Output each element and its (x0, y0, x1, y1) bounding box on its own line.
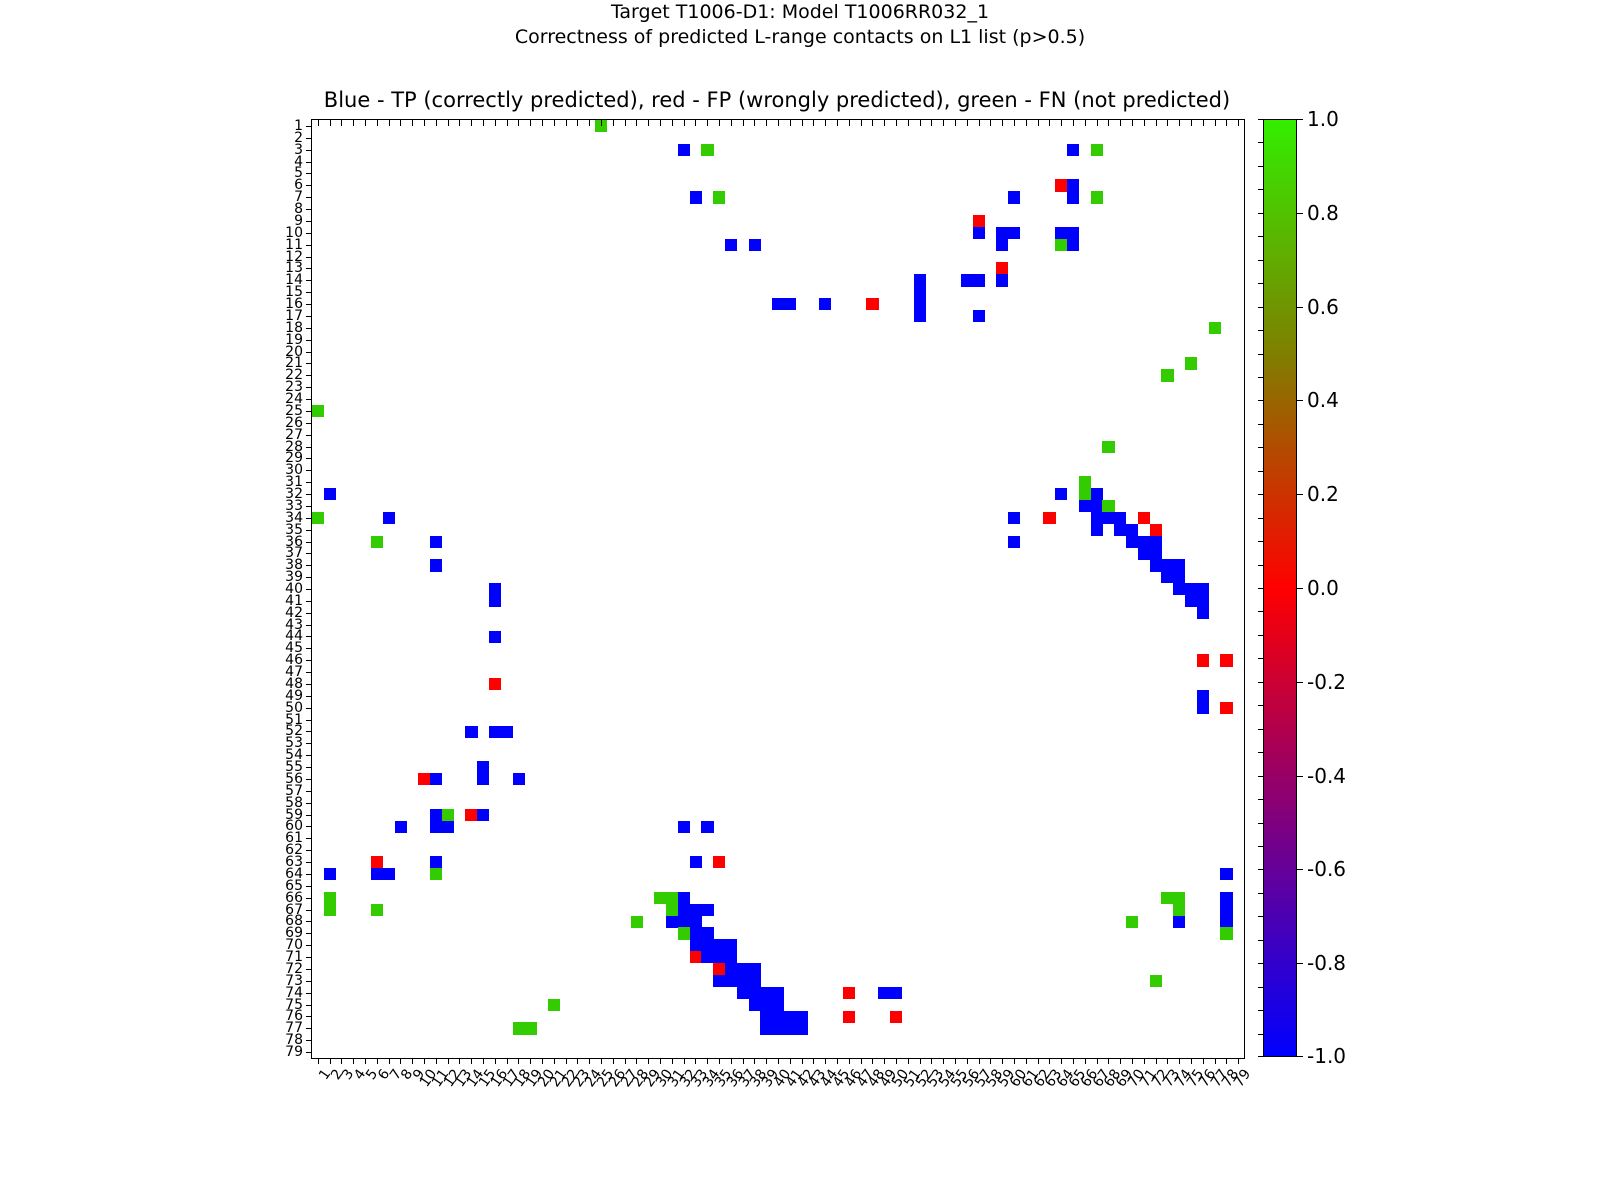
x-tick-mark (955, 1058, 956, 1064)
heatmap-cell (1185, 583, 1197, 595)
colorbar-minor-tick (1258, 377, 1263, 378)
colorbar-minor-tick (1258, 119, 1263, 120)
y-tick-mark (306, 921, 312, 922)
x-tick-mark (920, 1058, 921, 1064)
heatmap-cell (996, 227, 1008, 239)
x-tick-mark-top (648, 120, 649, 126)
x-tick-mark-top (625, 120, 626, 126)
y-tick-mark (306, 1028, 312, 1029)
heatmap-cell (713, 939, 725, 951)
heatmap-cell (312, 405, 324, 417)
heatmap-cell (430, 809, 442, 821)
y-tick-mark (306, 1040, 312, 1041)
x-tick-mark (1238, 1058, 1239, 1064)
x-tick-mark (884, 1058, 885, 1064)
heatmap-cell (1150, 536, 1162, 548)
y-tick-mark (306, 731, 312, 732)
heatmap-cell (1220, 927, 1232, 939)
y-tick-mark (306, 636, 312, 637)
colorbar-tick-mark (1297, 400, 1303, 401)
heatmap-cell (1067, 239, 1079, 251)
x-tick-mark-top (1179, 120, 1180, 126)
colorbar-tick-label: 0.4 (1307, 390, 1339, 410)
heatmap-cell (678, 904, 690, 916)
heatmap-cell (996, 262, 1008, 274)
heatmap-cell (465, 726, 477, 738)
y-tick-mark (306, 886, 312, 887)
x-tick-mark (861, 1058, 862, 1064)
x-tick-mark (1132, 1058, 1133, 1064)
x-tick-mark-top (719, 120, 720, 126)
x-tick-mark (1167, 1058, 1168, 1064)
colorbar-minor-tick (1258, 330, 1263, 331)
y-tick-mark (306, 850, 312, 851)
x-tick-mark-top (613, 120, 614, 126)
y-tick-mark (306, 530, 312, 531)
x-tick-mark-top (601, 120, 602, 126)
heatmap-cell (371, 904, 383, 916)
heatmap-cell (1079, 488, 1091, 500)
colorbar-minor-tick (1258, 846, 1263, 847)
colorbar-tick-mark (1297, 119, 1303, 120)
heatmap-cell (914, 274, 926, 286)
y-tick-mark (306, 387, 312, 388)
heatmap-cell (1114, 524, 1126, 536)
x-tick-mark-top (790, 120, 791, 126)
x-tick-mark-top (448, 120, 449, 126)
x-tick-mark (695, 1058, 696, 1064)
heatmap-cell (1102, 512, 1114, 524)
x-tick-mark (1156, 1058, 1157, 1064)
y-tick-mark (306, 506, 312, 507)
x-tick-mark-top (990, 120, 991, 126)
heatmap-cell (749, 963, 761, 975)
x-tick-mark-top (424, 120, 425, 126)
y-tick-mark (306, 482, 312, 483)
x-tick-mark (1014, 1058, 1015, 1064)
colorbar-minor-tick (1258, 1056, 1263, 1057)
heatmap-cell (1173, 904, 1185, 916)
heatmap-cell (1055, 179, 1067, 191)
colorbar-tick-mark (1297, 494, 1303, 495)
y-tick-mark (306, 268, 312, 269)
heatmap-cell (1161, 571, 1173, 583)
colorbar-minor-tick (1258, 658, 1263, 659)
x-tick-mark (825, 1058, 826, 1064)
heatmap-cell (418, 773, 430, 785)
x-tick-mark-top (872, 120, 873, 126)
heatmap-cell (383, 868, 395, 880)
heatmap-cell (1138, 547, 1150, 559)
x-tick-mark-top (377, 120, 378, 126)
y-tick-mark (306, 494, 312, 495)
x-tick-mark-top (495, 120, 496, 126)
heatmap-cell (1150, 547, 1162, 559)
heatmap-cell (1102, 500, 1114, 512)
y-tick-mark (306, 257, 312, 258)
x-tick-mark (436, 1058, 437, 1064)
x-tick-mark (518, 1058, 519, 1064)
x-tick-mark-top (955, 120, 956, 126)
x-tick-mark (625, 1058, 626, 1064)
y-tick-mark (306, 815, 312, 816)
y-tick-mark (306, 720, 312, 721)
colorbar-minor-tick (1258, 307, 1263, 308)
x-tick-mark-top (389, 120, 390, 126)
x-tick-mark (377, 1058, 378, 1064)
colorbar-minor-tick (1258, 213, 1263, 214)
x-tick-mark-top (778, 120, 779, 126)
heatmap-cell (796, 1022, 808, 1034)
heatmap-cell (690, 927, 702, 939)
y-tick-mark (306, 162, 312, 163)
y-tick-mark (306, 565, 312, 566)
y-tick-mark (306, 328, 312, 329)
heatmap-cell (1055, 239, 1067, 251)
x-tick-mark (459, 1058, 460, 1064)
heatmap-cell (501, 726, 513, 738)
colorbar-tick-label: -0.8 (1307, 953, 1346, 973)
heatmap-cell (312, 512, 324, 524)
x-tick-mark-top (412, 120, 413, 126)
x-tick-mark-top (802, 120, 803, 126)
heatmap-cell (690, 951, 702, 963)
heatmap-cell (465, 809, 477, 821)
heatmap-cell (371, 856, 383, 868)
x-tick-mark (766, 1058, 767, 1064)
heatmap-cell (690, 856, 702, 868)
x-tick-mark-top (1002, 120, 1003, 126)
colorbar-tick-label: -0.6 (1307, 859, 1346, 879)
colorbar-tick-label: 0.0 (1307, 578, 1339, 598)
x-tick-mark-top (920, 120, 921, 126)
heatmap-cell (489, 678, 501, 690)
x-tick-mark (1073, 1058, 1074, 1064)
colorbar-minor-tick (1258, 987, 1263, 988)
colorbar-tick-mark (1297, 1056, 1303, 1057)
x-tick-mark-top (825, 120, 826, 126)
suptitle-line-2: Correctness of predicted L-range contact… (0, 25, 1600, 50)
colorbar-minor-tick (1258, 494, 1263, 495)
heatmap-cell (1220, 892, 1232, 904)
colorbar-tick-mark (1297, 682, 1303, 683)
y-tick-label: 79 (285, 1046, 303, 1058)
heatmap-cells-layer[interactable] (312, 120, 1244, 1058)
x-tick-mark (990, 1058, 991, 1064)
y-tick-mark (306, 708, 312, 709)
heatmap-cell (1197, 607, 1209, 619)
y-tick-mark (306, 340, 312, 341)
colorbar-minor-tick (1258, 729, 1263, 730)
x-tick-mark-top (459, 120, 460, 126)
heatmap-cell (784, 1011, 796, 1023)
heatmap-cell (760, 1011, 772, 1023)
heatmap-cell (878, 987, 890, 999)
heatmap-cell (1067, 179, 1079, 191)
x-tick-mark-top (1038, 120, 1039, 126)
colorbar-minor-tick (1258, 893, 1263, 894)
colorbar-minor-tick (1258, 166, 1263, 167)
colorbar-minor-tick (1258, 518, 1263, 519)
y-tick-mark (306, 696, 312, 697)
y-tick-mark (306, 197, 312, 198)
x-tick-mark-top (400, 120, 401, 126)
heatmap-cell (749, 975, 761, 987)
x-tick-mark (613, 1058, 614, 1064)
y-tick-mark (306, 447, 312, 448)
heatmap-cell (1197, 583, 1209, 595)
heatmap-cell (1091, 191, 1103, 203)
heatmap-cell (1008, 227, 1020, 239)
x-tick-mark (1120, 1058, 1121, 1064)
heatmap-cell (489, 631, 501, 643)
heatmap-cell (1055, 227, 1067, 239)
heatmap-cell (489, 583, 501, 595)
colorbar-minor-tick (1258, 940, 1263, 941)
heatmap-cell (666, 892, 678, 904)
axes-title-legend: Blue - TP (correctly predicted), red - F… (311, 88, 1243, 112)
colorbar-minor-tick (1258, 565, 1263, 566)
x-tick-mark-top (660, 120, 661, 126)
heatmap-cell (1091, 500, 1103, 512)
heatmap-cell (1091, 488, 1103, 500)
x-tick-mark (389, 1058, 390, 1064)
heatmap-cell (690, 939, 702, 951)
x-tick-mark (400, 1058, 401, 1064)
colorbar-minor-tick (1258, 142, 1263, 143)
heatmap-cell (1173, 916, 1185, 928)
x-tick-mark (660, 1058, 661, 1064)
y-tick-mark (306, 352, 312, 353)
x-tick-mark (896, 1058, 897, 1064)
heatmap-cell (713, 963, 725, 975)
x-tick-mark-top (813, 120, 814, 126)
heatmap-cell (1161, 369, 1173, 381)
x-tick-mark (967, 1058, 968, 1064)
heatmap-cell (678, 144, 690, 156)
heatmap-cell (701, 904, 713, 916)
x-tick-mark-top (330, 120, 331, 126)
colorbar-minor-tick (1258, 189, 1263, 190)
figure-suptitle: Target T1006-D1: Model T1006RR032_1 Corr… (0, 0, 1600, 50)
x-tick-mark (495, 1058, 496, 1064)
x-tick-mark (424, 1058, 425, 1064)
x-tick-mark-top (931, 120, 932, 126)
y-tick-mark (306, 1016, 312, 1017)
x-tick-mark (1097, 1058, 1098, 1064)
heatmap-cell (713, 856, 725, 868)
y-tick-mark (306, 292, 312, 293)
y-tick-mark (306, 316, 312, 317)
heatmap-cell (1197, 690, 1209, 702)
heatmap-cell (772, 987, 784, 999)
x-tick-mark (1061, 1058, 1062, 1064)
x-tick-mark (1215, 1058, 1216, 1064)
heatmap-cell (973, 274, 985, 286)
x-tick-mark-top (518, 120, 519, 126)
heatmap-cell (701, 144, 713, 156)
y-tick-mark (306, 1005, 312, 1006)
colorbar-minor-tick (1258, 471, 1263, 472)
heatmap-cell (996, 239, 1008, 251)
y-tick-mark (306, 613, 312, 614)
x-tick-mark (318, 1058, 319, 1064)
x-tick-mark-top (884, 120, 885, 126)
heatmap-cell (784, 1022, 796, 1034)
y-tick-mark (306, 173, 312, 174)
heatmap-cell (725, 975, 737, 987)
x-tick-mark (707, 1058, 708, 1064)
colorbar-tick-label: 0.6 (1307, 297, 1339, 317)
colorbar-minor-tick (1258, 752, 1263, 753)
x-tick-mark (837, 1058, 838, 1064)
heatmap-cell (1102, 441, 1114, 453)
x-tick-mark (577, 1058, 578, 1064)
x-tick-mark-top (1026, 120, 1027, 126)
heatmap-cell (371, 868, 383, 880)
x-tick-mark-top (896, 120, 897, 126)
colorbar-tick-mark (1297, 307, 1303, 308)
heatmap-axes[interactable]: 1234567891011121314151617181920212223242… (311, 119, 1245, 1059)
x-tick-mark (908, 1058, 909, 1064)
heatmap-cell (914, 310, 926, 322)
heatmap-cell (1138, 536, 1150, 548)
heatmap-cell (1079, 500, 1091, 512)
heatmap-cell (701, 939, 713, 951)
x-tick-mark-top (707, 120, 708, 126)
y-tick-mark (306, 601, 312, 602)
x-tick-mark (542, 1058, 543, 1064)
x-tick-mark-top (1226, 120, 1227, 126)
heatmap-cell (1220, 868, 1232, 880)
heatmap-cell (1173, 571, 1185, 583)
x-tick-mark-top (1120, 120, 1121, 126)
y-tick-mark (306, 660, 312, 661)
y-tick-mark (306, 755, 312, 756)
heatmap-cell (1126, 524, 1138, 536)
y-tick-mark (306, 933, 312, 934)
x-tick-mark-top (554, 120, 555, 126)
heatmap-cell (772, 1022, 784, 1034)
colorbar-minor-tick (1258, 283, 1263, 284)
x-tick-mark-top (341, 120, 342, 126)
heatmap-cell (772, 298, 784, 310)
colorbar-minor-tick (1258, 236, 1263, 237)
x-tick-mark-top (754, 120, 755, 126)
x-tick-mark-top (1097, 120, 1098, 126)
y-tick-mark (306, 458, 312, 459)
heatmap-cell (1091, 144, 1103, 156)
y-tick-mark (306, 589, 312, 590)
heatmap-cell (772, 1011, 784, 1023)
y-tick-mark (306, 1052, 312, 1053)
y-tick-mark (306, 470, 312, 471)
y-tick-mark (306, 672, 312, 673)
heatmap-cell (678, 916, 690, 928)
x-tick-mark (754, 1058, 755, 1064)
heatmap-cell (1173, 583, 1185, 595)
y-tick-mark (306, 767, 312, 768)
heatmap-cell (890, 1011, 902, 1023)
colorbar-minor-tick (1258, 1010, 1263, 1011)
heatmap-cell (843, 987, 855, 999)
colorbar-minor-tick (1258, 682, 1263, 683)
heatmap-cell (701, 821, 713, 833)
x-tick-mark (872, 1058, 873, 1064)
x-tick-mark (566, 1058, 567, 1064)
heatmap-cell (1150, 559, 1162, 571)
y-tick-mark (306, 969, 312, 970)
colorbar-minor-tick (1258, 447, 1263, 448)
contact-map-figure: Target T1006-D1: Model T1006RR032_1 Corr… (0, 0, 1600, 1200)
heatmap-cell (772, 999, 784, 1011)
heatmap-cell (1138, 512, 1150, 524)
x-tick-mark-top (908, 120, 909, 126)
x-tick-mark (483, 1058, 484, 1064)
x-tick-mark (778, 1058, 779, 1064)
x-tick-mark (979, 1058, 980, 1064)
heatmap-cell (1197, 702, 1209, 714)
heatmap-cell (324, 868, 336, 880)
colorbar-minor-tick (1258, 541, 1263, 542)
heatmap-cell (395, 821, 407, 833)
x-tick-mark-top (1049, 120, 1050, 126)
y-tick-mark (306, 957, 312, 958)
x-tick-mark (1226, 1058, 1227, 1064)
heatmap-cell (678, 821, 690, 833)
heatmap-cell (760, 1022, 772, 1034)
heatmap-cell (1043, 512, 1055, 524)
y-tick-mark (306, 625, 312, 626)
x-tick-mark (648, 1058, 649, 1064)
colorbar-tick-label: 0.8 (1307, 203, 1339, 223)
heatmap-cell (666, 916, 678, 928)
x-tick-mark (1144, 1058, 1145, 1064)
x-tick-mark (589, 1058, 590, 1064)
colorbar-minor-tick (1258, 799, 1263, 800)
x-tick-mark (1191, 1058, 1192, 1064)
colorbar-tick-label: -1.0 (1307, 1046, 1346, 1066)
heatmap-cell (690, 904, 702, 916)
heatmap-cell (513, 1022, 525, 1034)
colorbar-minor-tick (1258, 635, 1263, 636)
y-tick-mark (306, 826, 312, 827)
x-tick-mark (1108, 1058, 1109, 1064)
y-tick-mark (306, 743, 312, 744)
heatmap-cell (489, 726, 501, 738)
x-tick-mark (672, 1058, 673, 1064)
y-tick-mark (306, 981, 312, 982)
heatmap-cell (430, 821, 442, 833)
y-tick-mark (306, 779, 312, 780)
x-tick-mark-top (1238, 120, 1239, 126)
heatmap-cell (796, 1011, 808, 1023)
x-tick-mark-top (1203, 120, 1204, 126)
x-tick-mark (743, 1058, 744, 1064)
heatmap-cell (866, 298, 878, 310)
y-tick-mark (306, 684, 312, 685)
x-tick-mark-top (1156, 120, 1157, 126)
x-tick-mark (731, 1058, 732, 1064)
x-tick-mark-top (436, 120, 437, 126)
y-tick-mark (306, 874, 312, 875)
y-tick-mark (306, 910, 312, 911)
x-tick-mark-top (589, 120, 590, 126)
colorbar-tick-label: 1.0 (1307, 109, 1339, 129)
x-tick-mark-top (636, 120, 637, 126)
colorbar-minor-tick (1258, 823, 1263, 824)
heatmap-cell (701, 927, 713, 939)
